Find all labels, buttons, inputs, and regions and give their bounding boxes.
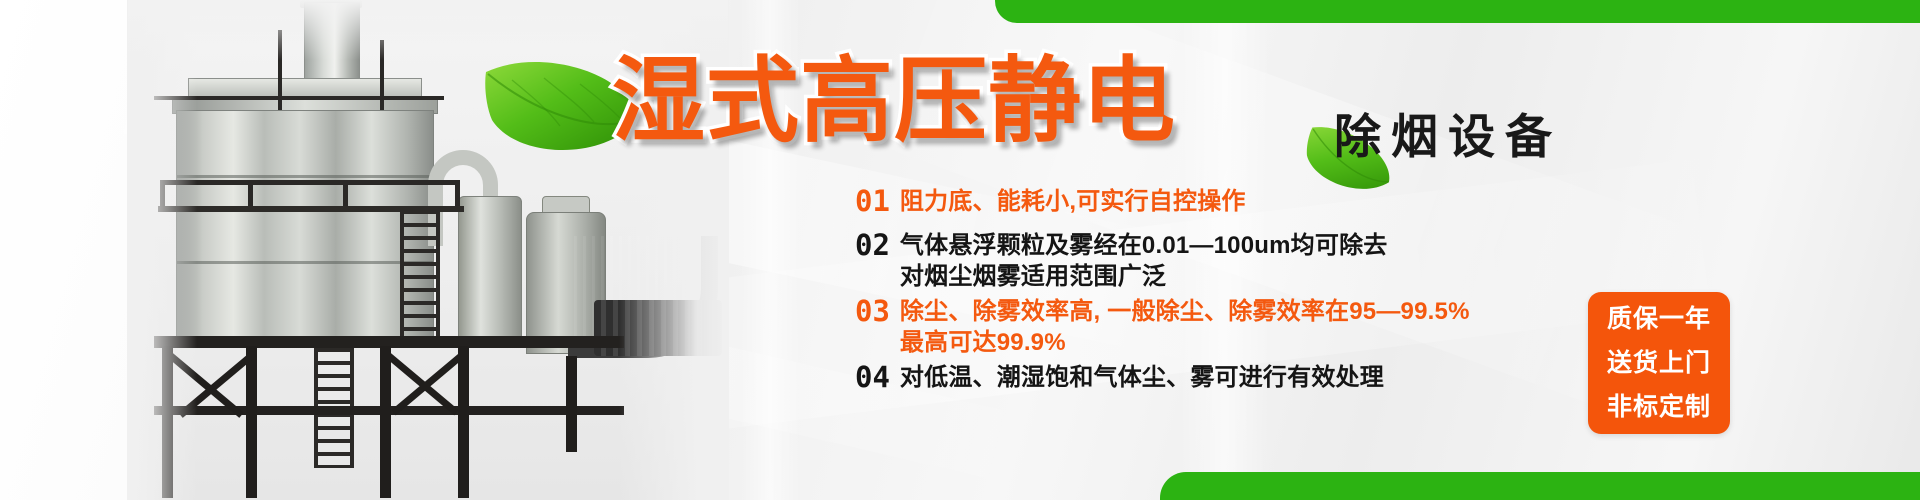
- badge-line-warranty: 质保一年: [1607, 297, 1711, 341]
- handrail-post: [455, 182, 460, 208]
- support-leg: [566, 356, 577, 452]
- guarantee-badge: 质保一年 送货上门 非标定制: [1588, 292, 1730, 434]
- ladder-rail: [436, 210, 440, 338]
- handrail: [160, 180, 460, 185]
- feature-text-line: 对烟尘烟雾适用范围广泛: [900, 261, 1388, 292]
- support-leg: [380, 346, 391, 498]
- feature-item-03: 03 除尘、除雾效率高, 一般除尘、除雾效率在95—99.5% 最高可达99.9…: [855, 296, 1470, 358]
- feature-number: 04: [855, 362, 890, 392]
- feature-text-line: 除尘、除雾效率高, 一般除尘、除雾效率在95—99.5%: [900, 296, 1470, 327]
- feature-item-04: 04 对低温、潮湿饱和气体尘、雾可进行有效处理: [855, 362, 1384, 393]
- green-ribbon-bottom: [1160, 472, 1920, 500]
- photo-fade-left: [127, 0, 197, 500]
- access-ladder: [400, 210, 440, 338]
- handrail-post: [343, 182, 348, 208]
- green-ribbon-top: [995, 0, 1920, 23]
- promo-banner: 湿式高压静电 除烟设备 01 阻力底、能耗小,可实行自控操作 02 气体悬浮颗粒…: [0, 0, 1920, 500]
- feature-number: 03: [855, 296, 890, 326]
- feature-number: 01: [855, 186, 890, 216]
- badge-line-delivery: 送货上门: [1607, 341, 1711, 385]
- feature-item-02: 02 气体悬浮颗粒及雾经在0.01—100um均可除去 对烟尘烟雾适用范围广泛: [855, 230, 1387, 292]
- dust-collector-body: [176, 110, 434, 342]
- handrail-upper: [154, 96, 444, 100]
- feature-item-01: 01 阻力底、能耗小,可实行自控操作: [855, 186, 1246, 217]
- handrail-post: [248, 182, 253, 208]
- feature-text-line: 阻力底、能耗小,可实行自控操作: [900, 186, 1246, 217]
- scrubber-tank-a: [458, 196, 522, 348]
- feature-text-line: 对低温、潮湿饱和气体尘、雾可进行有效处理: [900, 362, 1384, 393]
- support-leg: [246, 346, 257, 498]
- page-subtitle: 除烟设备: [1334, 113, 1562, 160]
- feature-number: 02: [855, 230, 890, 260]
- support-leg: [458, 346, 469, 498]
- ladder-rail: [400, 210, 404, 338]
- feature-text-line: 最高可达99.9%: [900, 327, 1470, 358]
- badge-line-custom: 非标定制: [1607, 385, 1711, 429]
- page-title: 湿式高压静电: [612, 55, 1176, 148]
- feature-text-line: 气体悬浮颗粒及雾经在0.01—100um均可除去: [900, 230, 1388, 261]
